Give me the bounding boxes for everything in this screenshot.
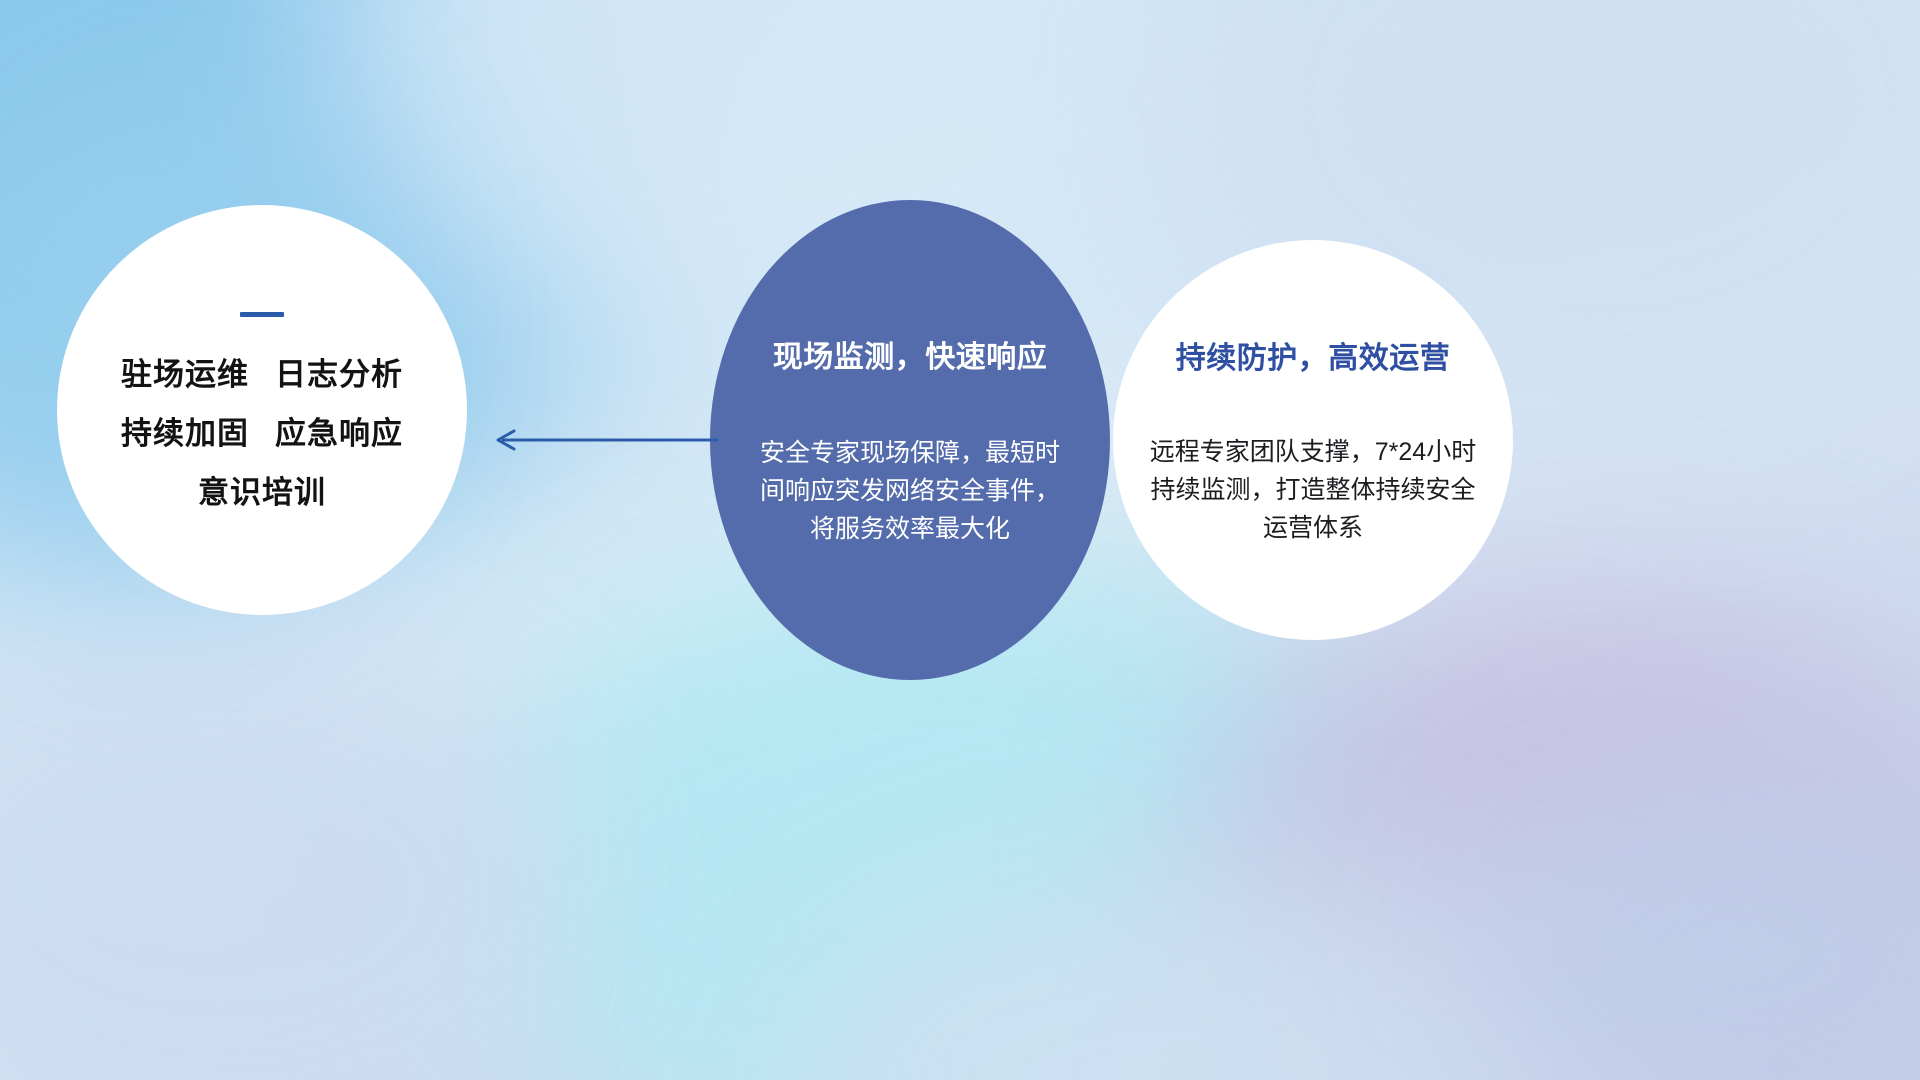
left-card-divider: [240, 312, 284, 317]
left-card-line-3: 意识培训: [198, 477, 326, 508]
left-card-content: 驻场运维日志分析 持续加固应急响应 意识培训: [57, 205, 467, 615]
middle-card-content: 现场监测，快速响应 安全专家现场保障，最短时间响应突发网络安全事件，将服务效率最…: [710, 200, 1110, 680]
left-card-line-1: 驻场运维日志分析: [121, 359, 403, 390]
arrow-left-icon: [480, 415, 720, 465]
left-card-line-1-a: 驻场运维: [121, 357, 249, 392]
middle-card-title: 现场监测，快速响应: [773, 332, 1048, 376]
right-card-content: 持续防护，高效运营 远程专家团队支撑，7*24小时持续监测，打造整体持续安全运营…: [1113, 240, 1513, 640]
connector-arrow: [480, 415, 720, 465]
slide-canvas: 驻场运维日志分析 持续加固应急响应 意识培训 现场监测，快速响应 安全专家现场保…: [0, 0, 1920, 1080]
right-card-title: 持续防护，高效运营: [1176, 333, 1451, 377]
left-card-line-2: 持续加固应急响应: [121, 418, 403, 449]
left-card-line-1-b: 日志分析: [275, 357, 403, 392]
right-card-body: 远程专家团队支撑，7*24小时持续监测，打造整体持续安全运营体系: [1143, 433, 1483, 547]
left-card-line-3-a: 意识培训: [198, 475, 326, 510]
middle-card-body: 安全专家现场保障，最短时间响应突发网络安全事件，将服务效率最大化: [752, 434, 1068, 548]
left-card-line-2-a: 持续加固: [121, 416, 249, 451]
left-card-line-2-b: 应急响应: [275, 416, 403, 451]
